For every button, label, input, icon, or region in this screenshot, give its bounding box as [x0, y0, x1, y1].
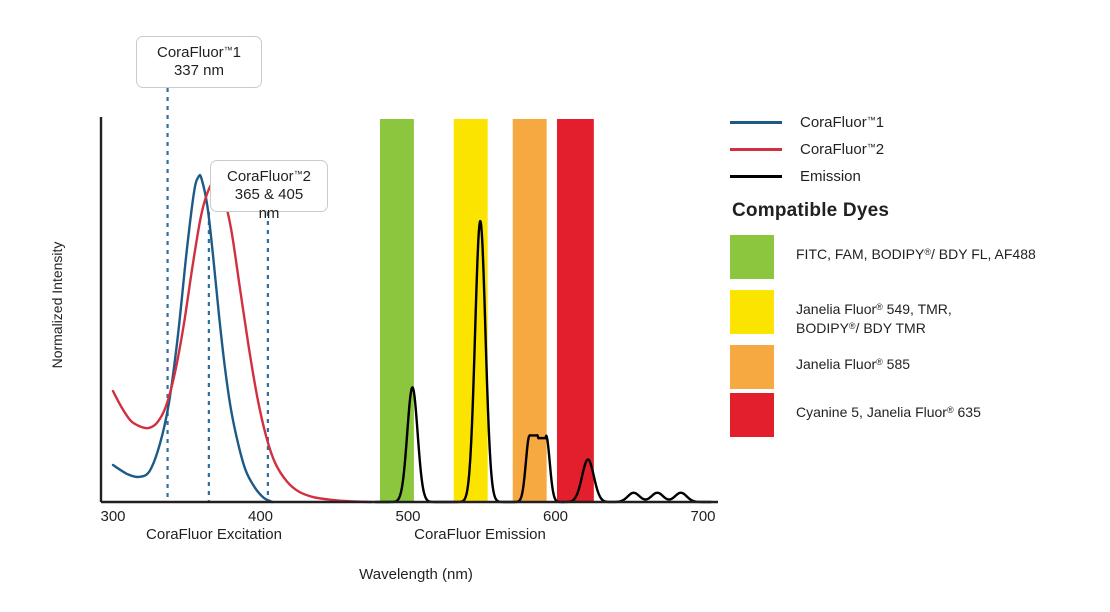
- trademark-icon: ™: [867, 142, 876, 152]
- callout-cf2-line2: 365 & 405 nm: [223, 186, 315, 223]
- dye-color-swatch: [730, 345, 774, 389]
- legend-label-base: Emission: [800, 168, 861, 185]
- x-axis-section-emission: CoraFluor Emission: [400, 526, 560, 543]
- emission-band-orange: [513, 119, 547, 502]
- dye-label: Cyanine 5, Janelia Fluor® 635: [796, 393, 981, 422]
- x-tick-300: 300: [83, 508, 143, 525]
- dye-row: Cyanine 5, Janelia Fluor® 635: [730, 393, 981, 437]
- legend-label-base: CoraFluor: [800, 141, 867, 158]
- registered-icon: ®: [849, 321, 856, 331]
- trademark-icon: ™: [224, 45, 233, 55]
- legend-item-corafluor2: CoraFluor™2: [730, 141, 884, 158]
- callout-corafluor-2: CoraFluor™2 365 & 405 nm: [210, 160, 328, 212]
- y-axis-label: Normalized Intensity: [49, 225, 65, 385]
- callout-cf1-line1: CoraFluor™1: [157, 44, 241, 61]
- callout-cf2-line1: CoraFluor™2: [227, 168, 311, 185]
- dye-row: FITC, FAM, BODIPY®/ BDY FL, AF488: [730, 235, 1036, 279]
- dye-row: Janelia Fluor® 585: [730, 345, 910, 389]
- registered-icon: ®: [876, 302, 883, 312]
- legend-label-index: 2: [876, 141, 884, 158]
- x-tick-400: 400: [231, 508, 291, 525]
- callout-corafluor-1: CoraFluor™1 337 nm: [136, 36, 262, 88]
- dye-label: Janelia Fluor® 549, TMR,BODIPY®/ BDY TMR: [796, 290, 952, 338]
- registered-icon: ®: [924, 247, 931, 257]
- compatible-dyes-title: Compatible Dyes: [732, 200, 889, 222]
- emission-band-green: [380, 119, 414, 502]
- dye-row: Janelia Fluor® 549, TMR,BODIPY®/ BDY TMR: [730, 290, 952, 338]
- trademark-icon: ™: [294, 169, 303, 179]
- registered-icon: ®: [876, 357, 883, 367]
- legend-panel: CoraFluor™1CoraFluor™2Emission Compatibl…: [730, 0, 1110, 612]
- legend-line-swatch: [730, 148, 782, 151]
- dye-color-swatch: [730, 290, 774, 334]
- plot-area: CoraFluor™1 337 nm CoraFluor™2 365 & 405…: [0, 0, 730, 612]
- x-tick-500: 500: [378, 508, 438, 525]
- legend-line-swatch: [730, 175, 782, 178]
- legend-item-corafluor1: CoraFluor™1: [730, 114, 884, 131]
- legend-item-label: CoraFluor™2: [800, 141, 884, 158]
- dye-color-swatch: [730, 235, 774, 279]
- legend-item-emission: Emission: [730, 168, 861, 185]
- curve-corafluor-2: [113, 183, 371, 502]
- x-tick-600: 600: [526, 508, 586, 525]
- registered-icon: ®: [947, 405, 954, 415]
- trademark-icon: ™: [867, 115, 876, 125]
- dye-label: FITC, FAM, BODIPY®/ BDY FL, AF488: [796, 235, 1036, 264]
- legend-label-index: 1: [876, 114, 884, 131]
- callout-cf1-line2: 337 nm: [149, 62, 249, 80]
- fluorescence-spectra-figure: CoraFluor™1 337 nm CoraFluor™2 365 & 405…: [0, 0, 1110, 612]
- dye-label: Janelia Fluor® 585: [796, 345, 910, 374]
- x-axis-section-excitation: CoraFluor Excitation: [134, 526, 294, 543]
- legend-label-base: CoraFluor: [800, 114, 867, 131]
- legend-line-swatch: [730, 121, 782, 124]
- dye-color-swatch: [730, 393, 774, 437]
- x-tick-700: 700: [673, 508, 733, 525]
- emission-band-red: [557, 119, 594, 502]
- legend-item-label: Emission: [800, 168, 861, 185]
- x-axis-label: Wavelength (nm): [286, 566, 546, 583]
- legend-item-label: CoraFluor™1: [800, 114, 884, 131]
